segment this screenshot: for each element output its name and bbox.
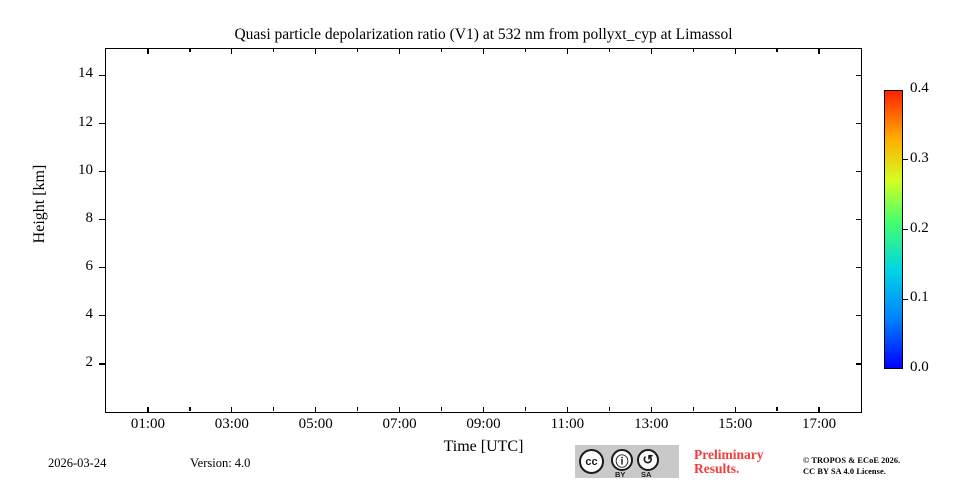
colorbar-tick [903, 159, 908, 160]
x-tick-minor [273, 407, 274, 411]
cc-icon: cc [579, 449, 604, 474]
y-tick-label: 8 [55, 210, 93, 227]
x-tick-major [818, 407, 819, 413]
cc-license-badge[interactable]: cc ⓘ ↺ BY SA [575, 445, 679, 478]
x-tick-major [147, 407, 148, 413]
preliminary-line-2: Results. [694, 462, 763, 476]
colorbar-tick [903, 299, 908, 300]
colorbar [884, 90, 903, 369]
x-tick-label: 07:00 [355, 416, 445, 433]
x-tick-minor [776, 407, 777, 411]
x-tick-label: 15:00 [690, 416, 780, 433]
colorbar-tick [903, 229, 908, 230]
y-tick-major [99, 267, 105, 268]
x-tick-minor [693, 407, 694, 411]
x-tick-label: 11:00 [522, 416, 612, 433]
x-tick-minor-top [357, 48, 358, 52]
y-tick-major-right [856, 75, 862, 76]
x-tick-major-top [399, 48, 400, 54]
x-tick-minor [189, 407, 190, 411]
x-tick-major [651, 407, 652, 413]
y-tick-major [99, 123, 105, 124]
y-tick-major-right [856, 219, 862, 220]
colorbar-tick-label: 0.4 [910, 80, 929, 97]
lidar-quicklook-figure: Quasi particle depolarization ratio (V1)… [0, 0, 960, 480]
x-tick-minor-top [776, 48, 777, 52]
x-tick-label: 01:00 [103, 416, 193, 433]
x-tick-major-top [567, 48, 568, 54]
colorbar-tick-label: 0.3 [910, 150, 929, 167]
y-tick-label: 4 [55, 306, 93, 323]
cc-by-label: BY [615, 470, 625, 479]
plot-axes-frame [105, 48, 862, 413]
y-tick-major-right [856, 315, 862, 316]
colorbar-gradient [884, 90, 903, 369]
x-tick-label: 03:00 [187, 416, 277, 433]
y-tick-label: 12 [55, 114, 93, 131]
x-tick-label: 05:00 [271, 416, 361, 433]
x-tick-minor [357, 407, 358, 411]
y-tick-label: 2 [55, 354, 93, 371]
x-tick-minor [441, 407, 442, 411]
x-tick-major-top [818, 48, 819, 54]
x-tick-label: 17:00 [774, 416, 864, 433]
x-tick-major [315, 407, 316, 413]
x-tick-label: 09:00 [439, 416, 529, 433]
y-tick-major [99, 171, 105, 172]
x-tick-minor-top [609, 48, 610, 52]
x-tick-major [231, 407, 232, 413]
x-tick-minor [609, 407, 610, 411]
y-tick-major [99, 315, 105, 316]
y-tick-major-right [856, 171, 862, 172]
x-tick-major [399, 407, 400, 413]
cc-by-icon: ⓘ [611, 449, 633, 471]
copyright-line-1: © TROPOS & ECoE 2026. [803, 455, 900, 466]
footer-version: Version: 4.0 [190, 456, 250, 471]
cc-sa-label: SA [641, 470, 651, 479]
x-tick-minor-top [441, 48, 442, 52]
y-tick-label: 14 [55, 65, 93, 82]
x-tick-minor-top [693, 48, 694, 52]
y-tick-major-right [856, 267, 862, 268]
copyright-block: © TROPOS & ECoE 2026. CC BY SA 4.0 Licen… [803, 455, 900, 477]
x-tick-major-top [483, 48, 484, 54]
y-axis-title: Height [km] [31, 134, 49, 274]
x-tick-major-top [651, 48, 652, 54]
y-tick-major [99, 363, 105, 364]
x-tick-major-top [315, 48, 316, 54]
footer-date: 2026-03-24 [48, 456, 106, 471]
y-tick-label: 10 [55, 162, 93, 179]
x-tick-major-top [735, 48, 736, 54]
x-tick-major [483, 407, 484, 413]
y-tick-major [99, 75, 105, 76]
x-tick-minor-top [525, 48, 526, 52]
colorbar-tick-label: 0.0 [910, 359, 929, 376]
x-tick-minor-top [273, 48, 274, 52]
preliminary-results-note: Preliminary Results. [694, 448, 763, 476]
x-tick-major [567, 407, 568, 413]
copyright-line-2: CC BY SA 4.0 License. [803, 466, 900, 477]
x-tick-label: 13:00 [606, 416, 696, 433]
x-tick-minor [525, 407, 526, 411]
colorbar-tick-label: 0.1 [910, 289, 929, 306]
page-title: Quasi particle depolarization ratio (V1)… [105, 26, 862, 44]
x-tick-major [735, 407, 736, 413]
preliminary-line-1: Preliminary [694, 448, 763, 462]
colorbar-tick-label: 0.2 [910, 220, 929, 237]
x-tick-minor-top [189, 48, 190, 52]
x-tick-major-top [231, 48, 232, 54]
y-tick-major-right [856, 123, 862, 124]
y-tick-label: 6 [55, 258, 93, 275]
cc-sa-icon: ↺ [637, 449, 659, 471]
y-tick-major [99, 219, 105, 220]
y-tick-major-right [856, 363, 862, 364]
x-tick-major-top [147, 48, 148, 54]
